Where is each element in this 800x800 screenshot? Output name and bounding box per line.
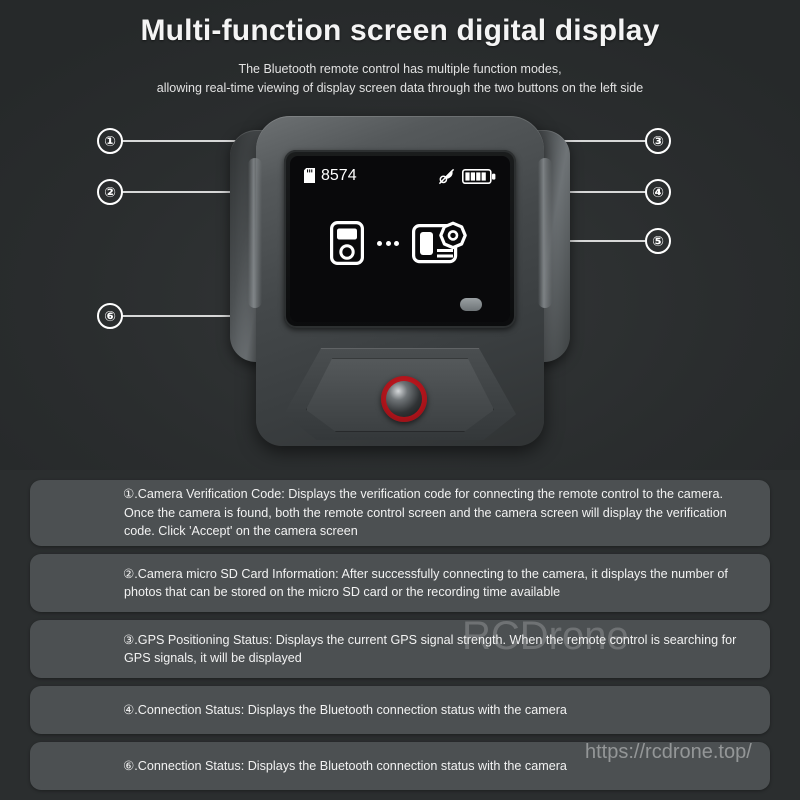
battery-full-icon: [462, 169, 496, 184]
connection-dots-icon: [377, 241, 399, 246]
info-card-4: ④.Connection Status: Displays the Blueto…: [30, 686, 770, 734]
info-card-2: ②.Camera micro SD Card Information: Afte…: [30, 554, 770, 612]
sd-card-count: 8574: [321, 168, 357, 183]
page-title: Multi-function screen digital display: [0, 14, 800, 48]
callout-marker-1[interactable]: ①: [97, 128, 123, 154]
page-root: Multi-function screen digital display Th…: [0, 0, 800, 800]
screen-status-bar: 8574: [290, 168, 510, 190]
device-grip-right: [538, 158, 552, 308]
subtitle-line-2: allowing real-time viewing of display sc…: [0, 79, 800, 98]
info-card-5: ⑥.Connection Status: Displays the Blueto…: [30, 742, 770, 790]
callout-marker-4[interactable]: ④: [645, 179, 671, 205]
info-cards-section: ①.Camera Verification Code: Displays the…: [0, 470, 800, 800]
led-indicator: [460, 298, 482, 311]
remote-control-device: 8574: [228, 112, 572, 470]
remote-control-icon: [330, 221, 364, 265]
info-card-3-text: ③.GPS Positioning Status: Displays the c…: [30, 631, 770, 668]
screen-icon-row: [290, 212, 510, 274]
info-card-5-text: ⑥.Connection Status: Displays the Blueto…: [30, 757, 591, 776]
info-card-3: ③.GPS Positioning Status: Displays the c…: [30, 620, 770, 678]
subtitle-line-1: The Bluetooth remote control has multipl…: [0, 60, 800, 79]
gps-searching-icon: [438, 168, 455, 185]
lcd-screen: 8574: [290, 156, 510, 322]
page-subtitle: The Bluetooth remote control has multipl…: [0, 60, 800, 98]
callout-marker-5[interactable]: ⑤: [645, 228, 671, 254]
info-card-2-text: ②.Camera micro SD Card Information: Afte…: [30, 565, 770, 602]
info-card-4-text: ④.Connection Status: Displays the Blueto…: [30, 701, 591, 720]
joystick-thumbstick[interactable]: [386, 381, 422, 417]
callout-marker-2[interactable]: ②: [97, 179, 123, 205]
callout-marker-3[interactable]: ③: [645, 128, 671, 154]
info-card-1: ①.Camera Verification Code: Displays the…: [30, 480, 770, 546]
hero-section: Multi-function screen digital display Th…: [0, 0, 800, 470]
info-card-1-text: ①.Camera Verification Code: Displays the…: [30, 485, 770, 541]
device-grip-left: [248, 158, 262, 308]
sd-card-icon: [304, 168, 315, 183]
callout-marker-6[interactable]: ⑥: [97, 303, 123, 329]
action-camera-icon: [412, 221, 470, 265]
sd-card-status: 8574: [304, 168, 357, 183]
